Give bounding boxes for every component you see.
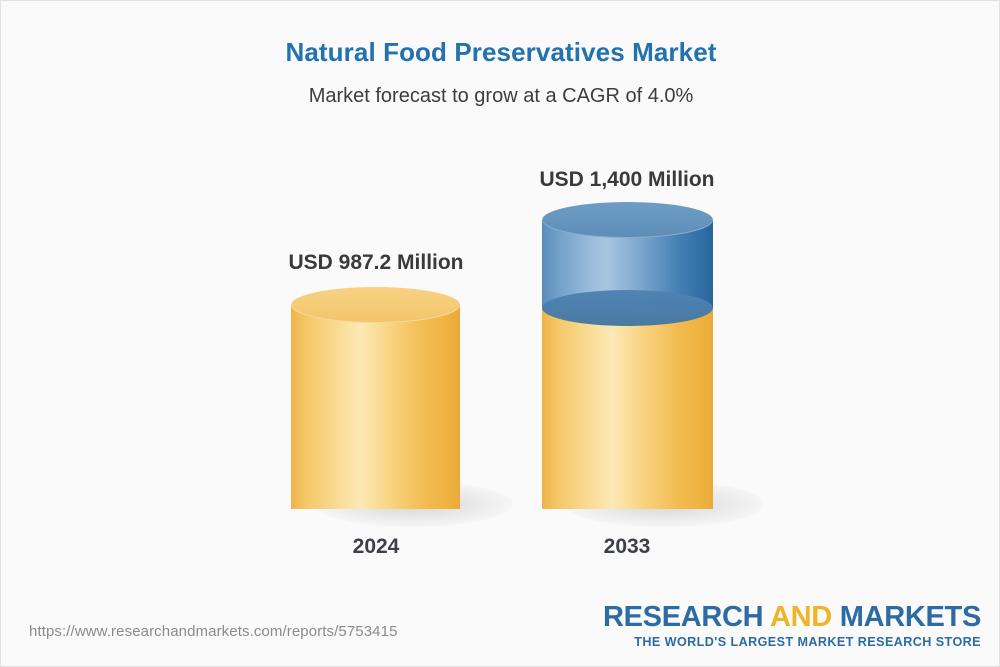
logo-tagline: THE WORLD'S LARGEST MARKET RESEARCH STOR… xyxy=(603,634,981,650)
bar-2033-yellow-segment xyxy=(542,308,713,509)
logo-word-markets: MARKETS xyxy=(832,601,981,633)
bar-2024[interactable] xyxy=(291,287,460,509)
bar-2024-top-cap xyxy=(291,287,460,323)
plot-area: USD 987.2 Million 2024 USD 1,400 Million… xyxy=(1,1,1000,667)
bar-2033[interactable] xyxy=(542,202,713,509)
logo-word-research: RESEARCH xyxy=(603,601,770,633)
bar-2033-top-cap xyxy=(542,202,713,238)
bar-2024-body xyxy=(291,305,460,509)
research-and-markets-logo[interactable]: RESEARCH AND MARKETS THE WORLD'S LARGEST… xyxy=(603,602,981,650)
logo-wordmark: RESEARCH AND MARKETS xyxy=(603,602,981,632)
chart-canvas: Natural Food Preservatives Market Market… xyxy=(0,0,1000,667)
logo-word-and: AND xyxy=(770,601,832,633)
bar-2033-category-label: 2033 xyxy=(537,535,717,559)
bar-2024-category-label: 2024 xyxy=(286,535,466,559)
bar-2033-segment-boundary xyxy=(542,290,713,326)
bar-2024-value-label: USD 987.2 Million xyxy=(256,251,496,275)
bar-2033-value-label: USD 1,400 Million xyxy=(507,168,747,192)
report-url[interactable]: https://www.researchandmarkets.com/repor… xyxy=(29,623,398,640)
